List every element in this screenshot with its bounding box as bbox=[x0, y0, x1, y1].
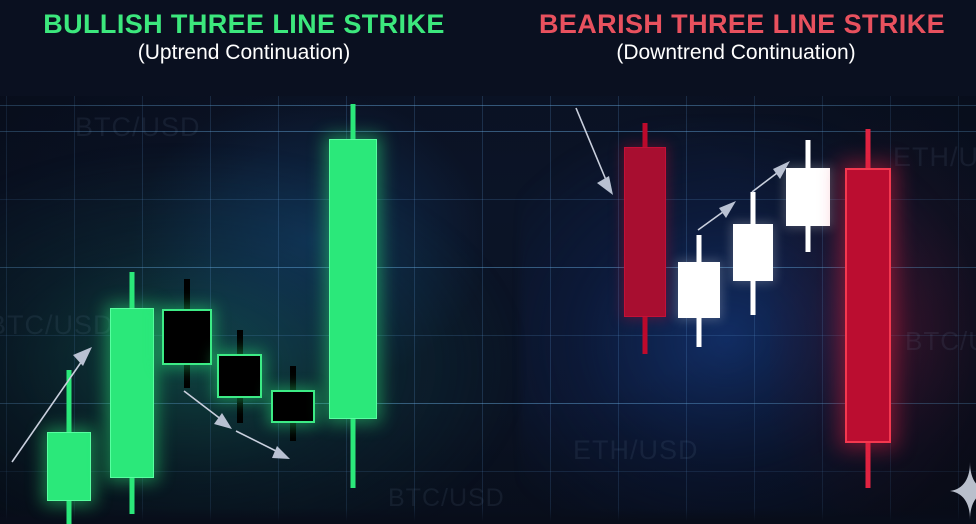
pullback-arrow-1 bbox=[180, 385, 240, 440]
uptrend-arrow bbox=[0, 330, 110, 480]
left-candle-2 bbox=[110, 272, 154, 514]
watermark-btcusd-3: BTC/USD bbox=[388, 484, 505, 513]
right-candle-2 bbox=[678, 235, 720, 347]
right-title-block: BEARISH THREE LINE STRIKE (Downtrend Con… bbox=[492, 10, 976, 65]
sparkle-icon bbox=[940, 462, 976, 520]
left-candle-3 bbox=[162, 279, 212, 388]
pullback-arrow-2 bbox=[232, 425, 300, 469]
left-title: BULLISH THREE LINE STRIKE bbox=[0, 10, 488, 38]
left-title-block: BULLISH THREE LINE STRIKE (Uptrend Conti… bbox=[0, 10, 488, 65]
watermark-ethusd-1: ETH/USD bbox=[893, 142, 976, 173]
left-subtitle: (Uptrend Continuation) bbox=[0, 41, 488, 65]
left-candle-5-body bbox=[271, 390, 315, 423]
right-candle-1 bbox=[624, 123, 666, 354]
right-candle-2-body bbox=[678, 262, 720, 318]
left-candle-6 bbox=[329, 104, 377, 488]
right-candle-1-body bbox=[624, 147, 666, 317]
left-candle-6-body bbox=[329, 139, 377, 419]
downtrend-arrow bbox=[568, 100, 624, 200]
candlestick-infographic: BTC/USD BTC/USD BTC/USD ETH/USD BTC/USD … bbox=[0, 0, 976, 524]
watermark-btcusd-1: BTC/USD bbox=[75, 112, 201, 143]
right-candle-5-body bbox=[845, 168, 891, 443]
right-candle-5 bbox=[845, 129, 891, 488]
rally-arrow-1 bbox=[694, 196, 742, 236]
left-candle-3-body bbox=[162, 309, 212, 365]
watermark-btcusd-4: BTC/USD bbox=[905, 326, 976, 357]
titles-row: BULLISH THREE LINE STRIKE (Uptrend Conti… bbox=[0, 0, 976, 92]
rally-arrow-2 bbox=[748, 156, 796, 198]
watermark-ethusd-2: ETH/USD bbox=[573, 435, 699, 466]
right-subtitle: (Downtrend Continuation) bbox=[492, 41, 976, 65]
left-candle-2-body bbox=[110, 308, 154, 478]
right-title: BEARISH THREE LINE STRIKE bbox=[492, 10, 976, 38]
